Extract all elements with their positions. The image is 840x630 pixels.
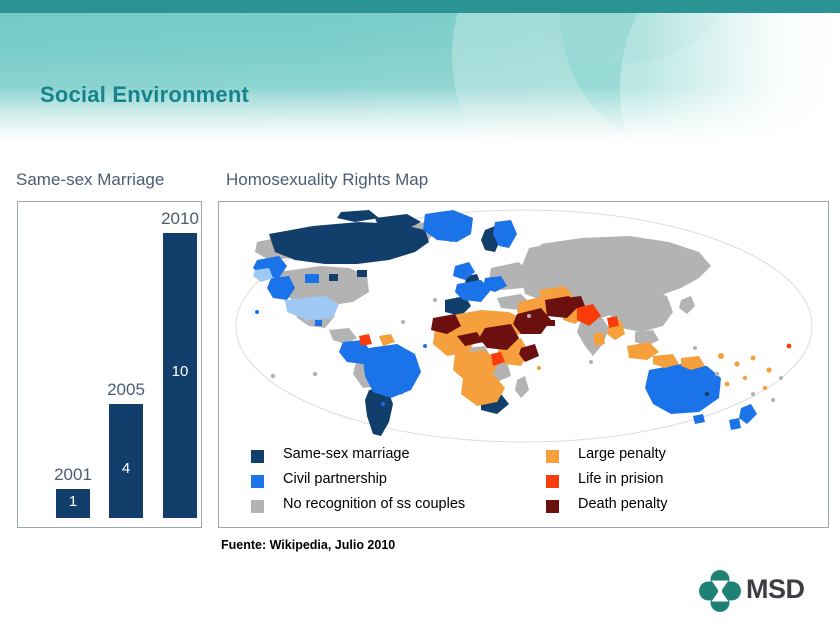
legend-swatch-icon [251,450,264,463]
bar-chart-panel: 2001120054201010 [17,201,202,528]
legend-swatch-icon [546,450,559,463]
legend-label: Same-sex marriage [283,446,410,462]
legend-label: Death penalty [578,496,667,512]
map-heading: Homosexuality Rights Map [226,170,428,190]
source-note: Fuente: Wikipedia, Julio 2010 [221,538,395,552]
bar-chart-plot-area: 2001120054201010 [18,202,201,527]
msd-clover-icon [698,570,742,612]
bar-value-label-2001: 1 [56,493,90,510]
header-top-strip [0,0,840,13]
world-map-svg [229,208,820,448]
chart-heading: Same-sex Marriage [16,170,164,190]
slide-canvas: Social Environment Same-sex Marriage Hom… [0,0,840,630]
msd-wordmark: MSD [746,574,805,605]
header-banner [0,13,840,141]
bar-year-label-2001: 2001 [41,465,105,485]
bar-value-label-2010: 10 [163,363,197,380]
legend-swatch-icon [251,500,264,513]
legend-label: No recognition of ss couples [283,496,465,512]
page-title: Social Environment [40,82,249,108]
map-legend: Same-sex marriageCivil partnershipNo rec… [251,445,811,521]
msd-logo: MSD [698,568,830,614]
map-panel: Same-sex marriageCivil partnershipNo rec… [218,201,829,528]
legend-label: Life in prision [578,471,663,487]
legend-swatch-icon [546,500,559,513]
legend-swatch-icon [251,475,264,488]
legend-label: Civil partnership [283,471,387,487]
legend-swatch-icon [546,475,559,488]
bar-year-label-2005: 2005 [94,380,158,400]
bar-year-label-2010: 2010 [148,209,212,229]
bar-value-label-2005: 4 [109,460,143,477]
legend-label: Large penalty [578,446,666,462]
header-right-fade [640,13,840,141]
